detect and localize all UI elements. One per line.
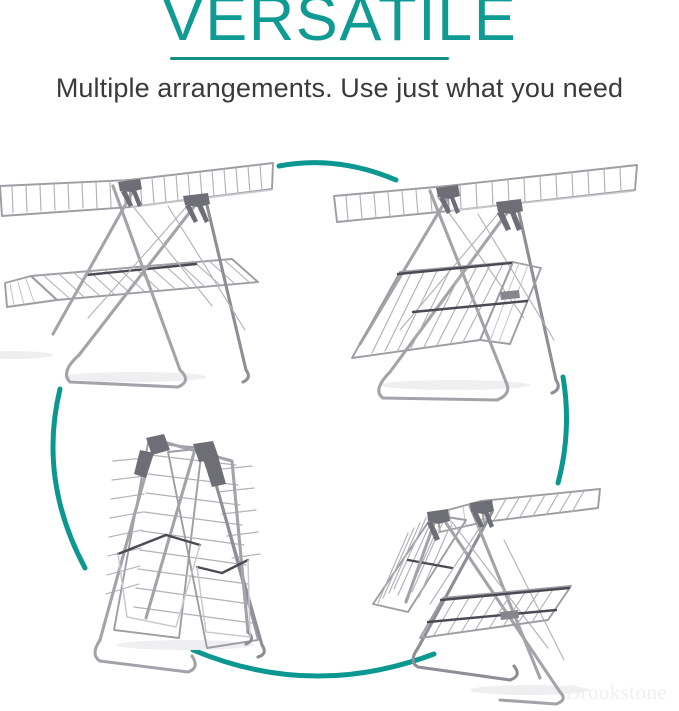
product-feature-image: VERSATILE Multiple arrangements. Use jus… — [0, 0, 679, 711]
arrangement-diagram — [0, 0, 679, 711]
brand-watermark: Brookstone — [566, 680, 667, 705]
rack-bottom-right — [0, 0, 679, 711]
